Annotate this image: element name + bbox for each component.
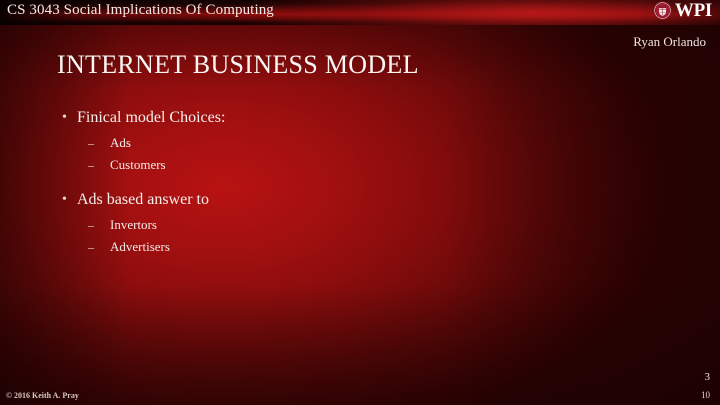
slide-number: 3 bbox=[705, 371, 711, 383]
bullet-text: Customers bbox=[110, 157, 166, 172]
bullet-item-level1: • Finical model Choices: bbox=[58, 107, 658, 129]
wpi-seal-icon bbox=[653, 1, 672, 20]
author-name: Ryan Orlando bbox=[633, 34, 706, 50]
bullet-text: Ads based answer to bbox=[77, 191, 209, 208]
bullet-text: Invertors bbox=[110, 217, 157, 232]
bullet-item-level2: – Invertors bbox=[58, 214, 658, 236]
bullet-group: • Finical model Choices: – Ads – Custome… bbox=[58, 107, 658, 176]
total-slides: 10 bbox=[701, 390, 710, 400]
copyright-notice: © 2016 Keith A. Pray bbox=[6, 391, 79, 400]
bullet-text: Advertisers bbox=[110, 239, 170, 254]
wpi-wordmark: WPI bbox=[675, 1, 712, 20]
dash-marker-icon: – bbox=[88, 154, 94, 176]
dash-marker-icon: – bbox=[88, 236, 94, 258]
bullet-dot-icon: • bbox=[62, 107, 67, 129]
bullet-text: Ads bbox=[110, 135, 131, 150]
slide-title: INTERNET BUSINESS MODEL bbox=[57, 50, 419, 80]
bullet-text: Finical model Choices: bbox=[77, 109, 225, 126]
slide-body: • Finical model Choices: – Ads – Custome… bbox=[58, 107, 658, 271]
bullet-item-level2: – Customers bbox=[58, 154, 658, 176]
bullet-item-level2: – Ads bbox=[58, 132, 658, 154]
bullet-dot-icon: • bbox=[62, 189, 67, 211]
dash-marker-icon: – bbox=[88, 214, 94, 236]
course-title: CS 3043 Social Implications Of Computing bbox=[7, 2, 274, 19]
wpi-logo: WPI bbox=[653, 1, 712, 20]
presentation-slide: CS 3043 Social Implications Of Computing… bbox=[0, 0, 720, 405]
bullet-group: • Ads based answer to – Invertors – Adve… bbox=[58, 189, 658, 258]
bullet-item-level2: – Advertisers bbox=[58, 236, 658, 258]
bullet-item-level1: • Ads based answer to bbox=[58, 189, 658, 211]
dash-marker-icon: – bbox=[88, 132, 94, 154]
